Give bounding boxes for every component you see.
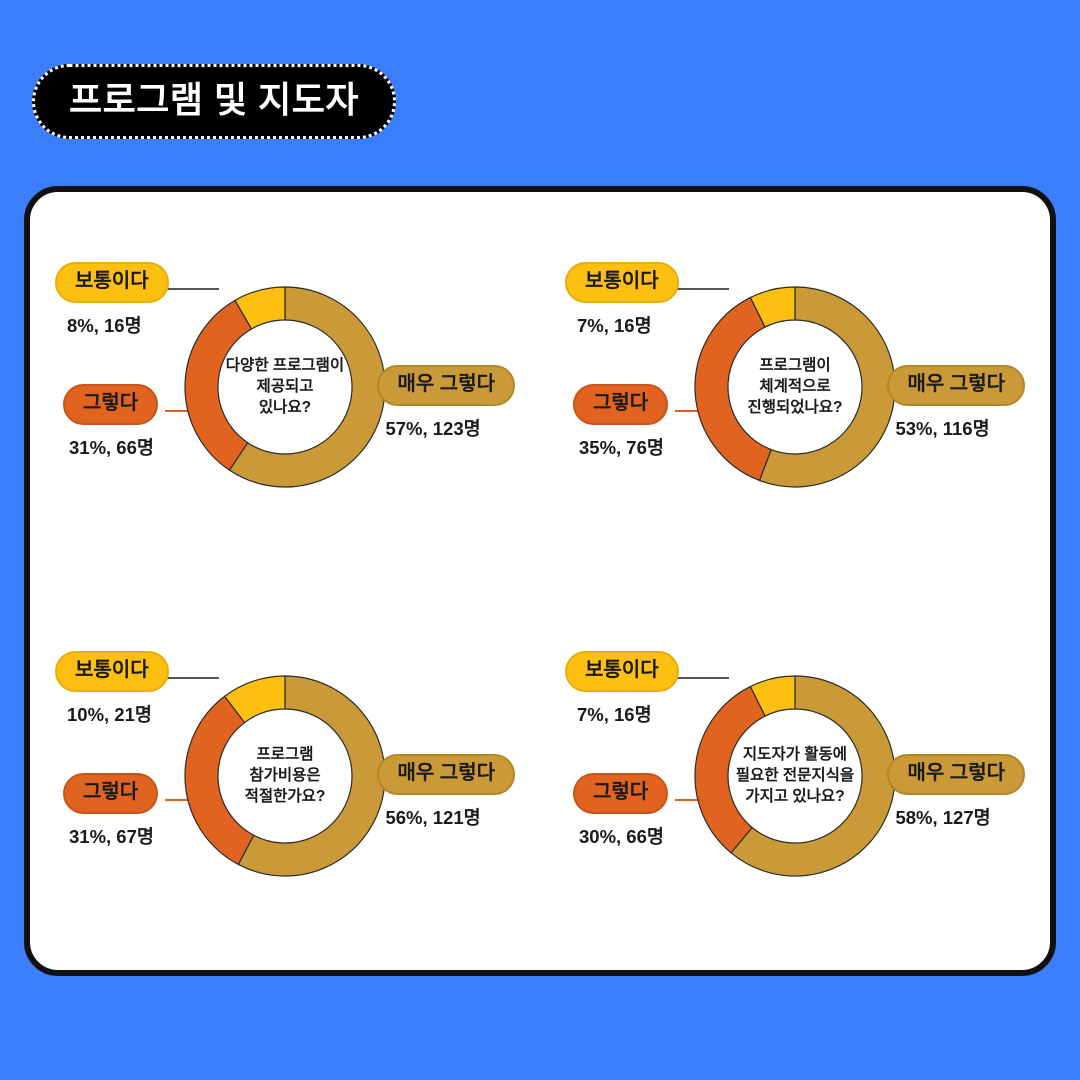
legend-strong-label-2: 매우 그렇다 bbox=[377, 754, 515, 795]
donut-segment-그렇다[interactable] bbox=[695, 297, 771, 480]
legend-neutral-0: 보통이다 8%, 16명 bbox=[55, 262, 169, 338]
legend-strong-label-3: 매우 그렇다 bbox=[887, 754, 1025, 795]
charts-card: 다양한 프로그램이제공되고있나요? 보통이다 8%, 16명 그렇다 31%, … bbox=[24, 186, 1056, 976]
legend-neutral-label-3: 보통이다 bbox=[565, 651, 679, 692]
legend-neutral-value-0: 8%, 16명 bbox=[67, 312, 169, 338]
legend-neutral-label-2: 보통이다 bbox=[55, 651, 169, 692]
legend-strong-value-3: 58%, 127명 bbox=[895, 804, 1025, 830]
legend-strong-0: 매우 그렇다 57%, 123명 bbox=[377, 365, 515, 441]
legend-neutral-label-1: 보통이다 bbox=[565, 262, 679, 303]
legend-agree-3: 그렇다 30%, 66명 bbox=[573, 773, 668, 849]
legend-agree-label-1: 그렇다 bbox=[573, 384, 668, 425]
donut-svg bbox=[179, 281, 391, 493]
legend-strong-3: 매우 그렇다 58%, 127명 bbox=[887, 754, 1025, 830]
legend-neutral-1: 보통이다 7%, 16명 bbox=[565, 262, 679, 338]
chart-cell-3: 지도자가 활동에필요한 전문지식을가지고 있나요? 보통이다 7%, 16명 그… bbox=[540, 581, 1050, 970]
donut-ring-2 bbox=[179, 670, 391, 882]
donut-svg bbox=[179, 670, 391, 882]
donut-chart-1: 프로그램이체계적으로진행되었나요? 보통이다 7%, 16명 그렇다 35%, … bbox=[565, 262, 1025, 512]
page-title-container: 프로그램 및 지도자 bbox=[32, 64, 396, 139]
legend-strong-value-1: 53%, 116명 bbox=[895, 415, 1025, 441]
legend-agree-label-0: 그렇다 bbox=[63, 384, 158, 425]
donut-chart-0: 다양한 프로그램이제공되고있나요? 보통이다 8%, 16명 그렇다 31%, … bbox=[55, 262, 515, 512]
donut-segment-그렇다[interactable] bbox=[695, 686, 765, 852]
legend-strong-value-0: 57%, 123명 bbox=[385, 415, 515, 441]
legend-agree-label-3: 그렇다 bbox=[573, 773, 668, 814]
legend-strong-value-2: 56%, 121명 bbox=[385, 804, 515, 830]
donut-ring-0 bbox=[179, 281, 391, 493]
legend-neutral-value-3: 7%, 16명 bbox=[577, 701, 679, 727]
donut-ring-3 bbox=[689, 670, 901, 882]
legend-agree-value-3: 30%, 66명 bbox=[579, 823, 668, 849]
legend-neutral-label-0: 보통이다 bbox=[55, 262, 169, 303]
donut-svg bbox=[689, 281, 901, 493]
legend-neutral-value-1: 7%, 16명 bbox=[577, 312, 679, 338]
donut-chart-3: 지도자가 활동에필요한 전문지식을가지고 있나요? 보통이다 7%, 16명 그… bbox=[565, 651, 1025, 901]
legend-neutral-value-2: 10%, 21명 bbox=[67, 701, 169, 727]
legend-strong-label-1: 매우 그렇다 bbox=[887, 365, 1025, 406]
donut-chart-2: 프로그램참가비용은적절한가요? 보통이다 10%, 21명 그렇다 31%, 6… bbox=[55, 651, 515, 901]
legend-agree-value-0: 31%, 66명 bbox=[69, 434, 158, 460]
chart-cell-0: 다양한 프로그램이제공되고있나요? 보통이다 8%, 16명 그렇다 31%, … bbox=[30, 192, 540, 581]
page-title: 프로그램 및 지도자 bbox=[32, 64, 396, 139]
chart-grid: 다양한 프로그램이제공되고있나요? 보통이다 8%, 16명 그렇다 31%, … bbox=[30, 192, 1050, 970]
chart-cell-2: 프로그램참가비용은적절한가요? 보통이다 10%, 21명 그렇다 31%, 6… bbox=[30, 581, 540, 970]
legend-agree-1: 그렇다 35%, 76명 bbox=[573, 384, 668, 460]
donut-svg bbox=[689, 670, 901, 882]
legend-strong-2: 매우 그렇다 56%, 121명 bbox=[377, 754, 515, 830]
legend-agree-2: 그렇다 31%, 67명 bbox=[63, 773, 158, 849]
legend-neutral-3: 보통이다 7%, 16명 bbox=[565, 651, 679, 727]
legend-agree-value-2: 31%, 67명 bbox=[69, 823, 158, 849]
donut-ring-1 bbox=[689, 281, 901, 493]
legend-agree-0: 그렇다 31%, 66명 bbox=[63, 384, 158, 460]
chart-cell-1: 프로그램이체계적으로진행되었나요? 보통이다 7%, 16명 그렇다 35%, … bbox=[540, 192, 1050, 581]
legend-strong-1: 매우 그렇다 53%, 116명 bbox=[887, 365, 1025, 441]
legend-neutral-2: 보통이다 10%, 21명 bbox=[55, 651, 169, 727]
legend-agree-value-1: 35%, 76명 bbox=[579, 434, 668, 460]
legend-strong-label-0: 매우 그렇다 bbox=[377, 365, 515, 406]
legend-agree-label-2: 그렇다 bbox=[63, 773, 158, 814]
donut-segment-그렇다[interactable] bbox=[185, 300, 252, 470]
